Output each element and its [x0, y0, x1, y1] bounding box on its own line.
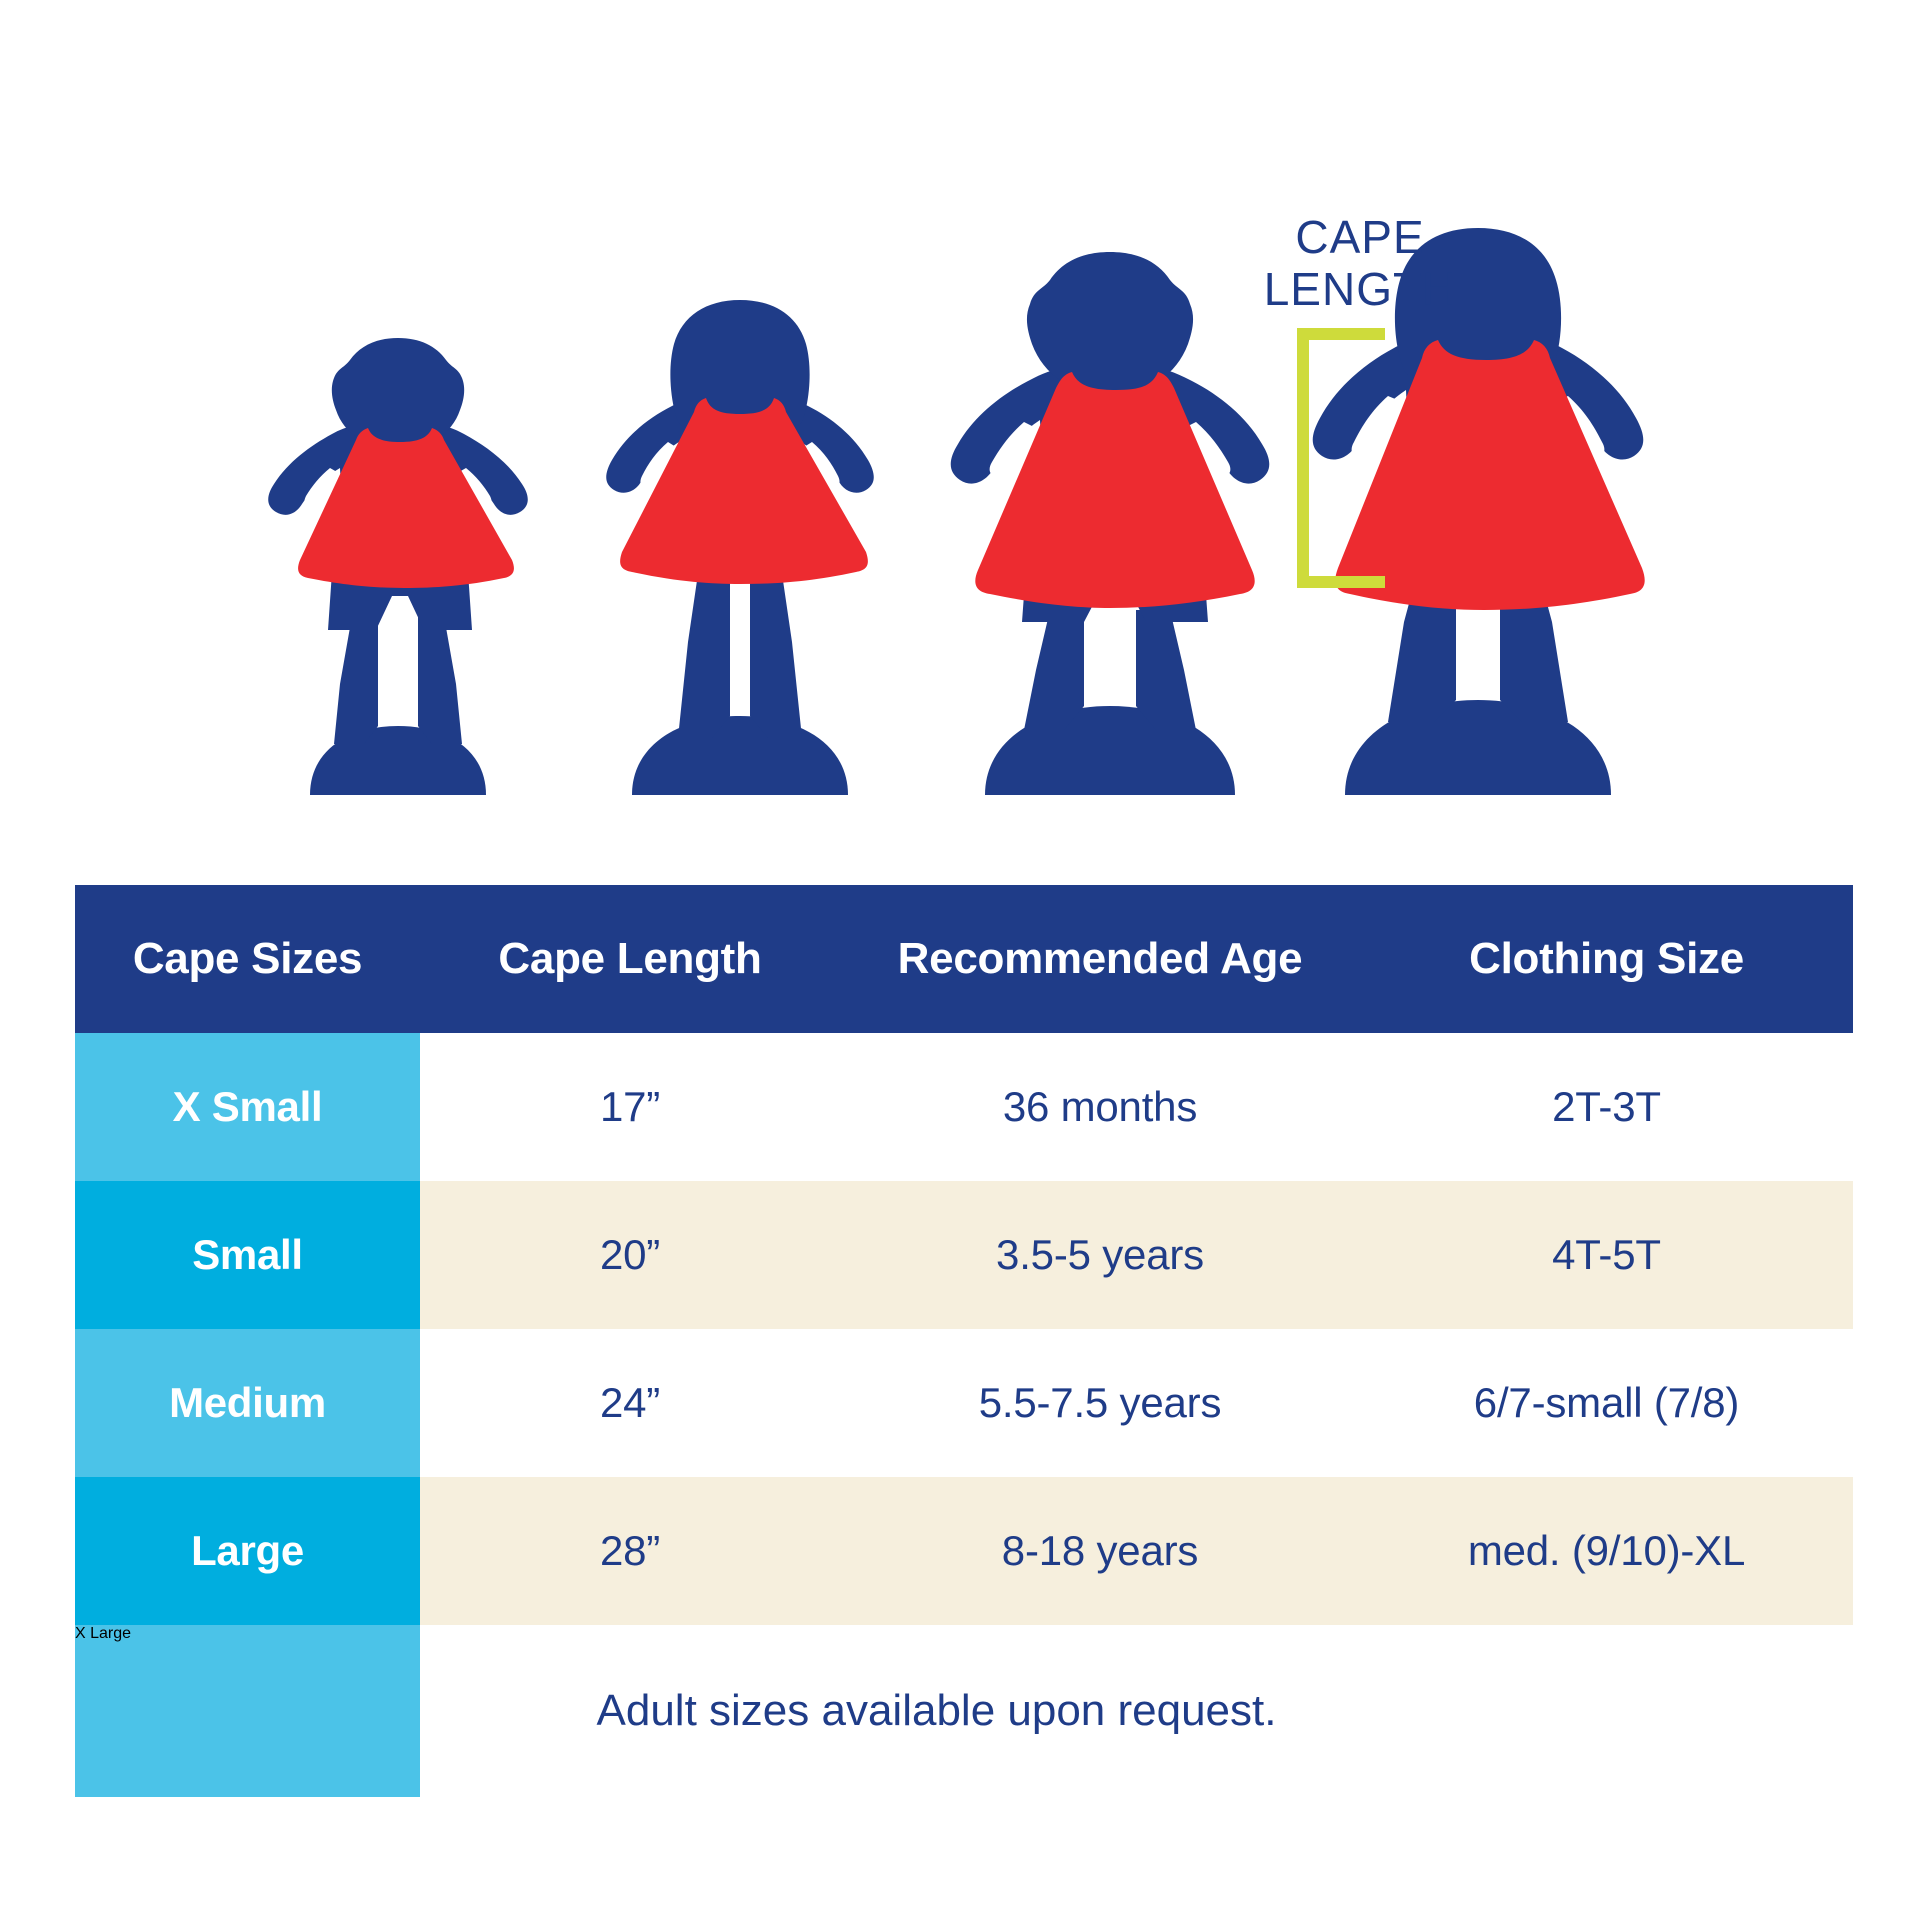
cell-cape-size: Small — [75, 1181, 420, 1329]
cell-cape-length: 24” — [420, 1329, 840, 1477]
legs — [334, 616, 462, 744]
ground-mound — [985, 706, 1235, 795]
cell-recommended-age: 3.5-5 years — [840, 1181, 1360, 1329]
superhero-illustration: CAPE LENGTH — [0, 0, 1921, 880]
figure-small — [606, 300, 874, 795]
cell-cape-size: X Small — [75, 1033, 420, 1181]
figure-x-small — [268, 338, 528, 795]
table-header-row: Cape Sizes Cape Length Recommended Age C… — [75, 885, 1853, 1033]
cell-adult-sizes-note: Adult sizes available upon request. — [420, 1625, 1853, 1797]
table-row: X Small 17” 36 months 2T-3T — [75, 1033, 1853, 1181]
cell-clothing-size: med. (9/10)-XL — [1360, 1477, 1853, 1625]
cell-clothing-size: 2T-3T — [1360, 1033, 1853, 1181]
table-row: Small 20” 3.5-5 years 4T-5T — [75, 1181, 1853, 1329]
cell-cape-size: Large — [75, 1477, 420, 1625]
cape-length-label: CAPE LENGTH — [1245, 212, 1475, 315]
cell-cape-size: Medium — [75, 1329, 420, 1477]
ground-mound — [1345, 700, 1611, 795]
column-header-cape-length: Cape Length — [420, 885, 840, 1033]
cell-cape-size: X Large — [75, 1625, 420, 1797]
legs — [678, 560, 802, 738]
cape-size-table: Cape Sizes Cape Length Recommended Age C… — [75, 885, 1853, 1797]
cell-recommended-age: 8-18 years — [840, 1477, 1360, 1625]
cell-clothing-size: 4T-5T — [1360, 1181, 1853, 1329]
cell-cape-length: 20” — [420, 1181, 840, 1329]
cell-recommended-age: 36 months — [840, 1033, 1360, 1181]
figures-svg — [0, 0, 1921, 880]
figure-medium — [951, 252, 1270, 795]
table-row: Medium 24” 5.5-7.5 years 6/7-small (7/8) — [75, 1329, 1853, 1477]
cell-recommended-age: 5.5-7.5 years — [840, 1329, 1360, 1477]
column-header-cape-sizes: Cape Sizes — [75, 885, 420, 1033]
cell-cape-length: 17” — [420, 1033, 840, 1181]
cell-cape-length: 28” — [420, 1477, 840, 1625]
cell-clothing-size: 6/7-small (7/8) — [1360, 1329, 1853, 1477]
column-header-clothing-size: Clothing Size — [1360, 885, 1853, 1033]
table-row: X Large Adult sizes available upon reque… — [75, 1625, 1853, 1797]
table-row: Large 28” 8-18 years med. (9/10)-XL — [75, 1477, 1853, 1625]
column-header-recommended-age: Recommended Age — [840, 885, 1360, 1033]
ground-mound — [632, 716, 848, 795]
